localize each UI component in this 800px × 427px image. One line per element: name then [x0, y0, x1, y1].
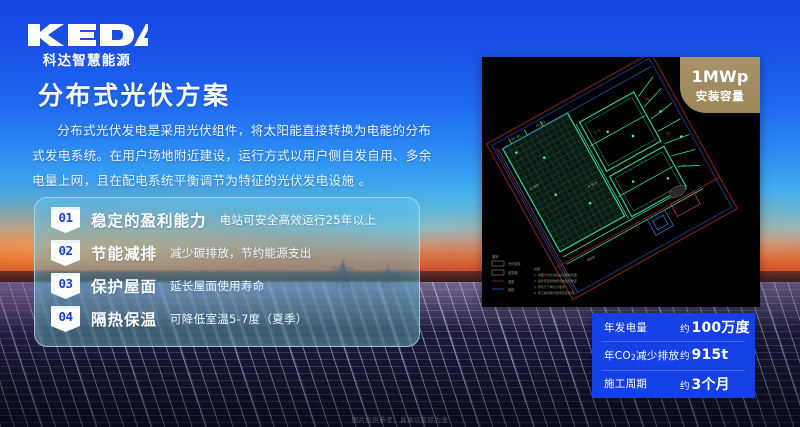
feature-item: 02 节能减排 减少碳排放，节约能源支出: [51, 239, 312, 267]
svg-text:道路: 道路: [508, 279, 515, 284]
stat-approx: 约: [680, 378, 690, 392]
stat-number: 100万度: [692, 317, 750, 337]
svg-text:说明：: 说明：: [534, 266, 543, 271]
feature-note: 可降低室温5-7度（夏季）: [170, 311, 307, 327]
feature-title: 隔热保温: [91, 308, 157, 330]
stat-value: 约 915t: [680, 347, 728, 363]
capacity-label: 安装容量: [696, 88, 744, 104]
svg-text:图例: 图例: [492, 254, 498, 259]
stat-number: 3个月: [692, 374, 730, 394]
description-paragraph: 分布式光伏发电是采用光伏组件，将太阳能直接转换为电能的分布式发电系统。在用户场地…: [32, 118, 432, 194]
svg-text:1. 本图为光伏电站总平面布置图: 1. 本图为光伏电站总平面布置图: [534, 272, 577, 277]
feature-note: 延长屋面使用寿命: [170, 278, 264, 294]
stat-value: 约 3个月: [680, 374, 730, 394]
cad-site-plan-image: PV-01PV-02 A-BLKB-BLK C-1C-2 T1T2 T3ROAD: [482, 57, 760, 307]
feature-title: 节能减排: [91, 242, 157, 264]
svg-text:C-2: C-2: [640, 158, 647, 164]
brand-logo: 科达智慧能源: [26, 22, 156, 69]
feature-title: 保护屋面: [91, 275, 157, 297]
feature-title: 稳定的盈利能力: [91, 209, 207, 231]
stats-panel: 年发电量 约 100万度 年CO2减少排放 约 915t 施工周期 约 3个月: [592, 313, 755, 398]
stat-row: 年CO2减少排放 约 915t: [592, 341, 755, 369]
stat-row: 年发电量 约 100万度: [592, 313, 755, 341]
svg-text:T2: T2: [665, 131, 671, 136]
feature-number: 02: [51, 243, 80, 258]
number-badge-icon: 03: [51, 273, 80, 299]
stat-value: 约 100万度: [680, 317, 750, 337]
capacity-badge: 1MWp 安装容量: [680, 57, 760, 113]
feature-item: 03 保护屋面 延长屋面使用寿命: [51, 272, 264, 300]
cad-notes-icon: 说明： 1. 本图为光伏电站总平面布置图 2. 组件安装倾角按当地最佳角度 3.…: [534, 265, 644, 295]
stat-row: 施工周期 约 3个月: [592, 370, 755, 398]
svg-text:C-1: C-1: [594, 128, 601, 134]
slide-canvas: 科达智慧能源 分布式光伏方案 分布式光伏发电是采用光伏组件，将太阳能直接转换为电…: [0, 0, 800, 427]
svg-text:逆变器: 逆变器: [508, 270, 518, 275]
svg-text:电缆: 电缆: [508, 287, 515, 292]
feature-list-panel: 01 稳定的盈利能力 电站可安全高效运行25年以上 02 节能减排 减少碳排放，…: [34, 197, 420, 347]
stat-number: 915t: [692, 347, 729, 363]
feature-note: 电站可安全高效运行25年以上: [220, 212, 377, 228]
stat-approx: 约: [680, 348, 690, 362]
capacity-value: 1MWp: [692, 67, 749, 86]
svg-text:光伏组件: 光伏组件: [508, 261, 522, 266]
feature-item: 01 稳定的盈利能力 电站可安全高效运行25年以上: [51, 206, 376, 234]
feature-note: 减少碳排放，节约能源支出: [170, 245, 312, 261]
stat-label: 年CO2减少排放: [604, 348, 679, 363]
svg-text:T3: T3: [681, 163, 687, 168]
svg-text:3. 所有尺寸单位为毫米: 3. 所有尺寸单位为毫米: [534, 284, 565, 289]
number-badge-icon: 04: [51, 306, 80, 332]
number-badge-icon: 02: [51, 240, 80, 266]
stat-label: 施工周期: [604, 376, 647, 391]
page-title: 分布式光伏方案: [38, 76, 231, 112]
number-badge-icon: 01: [51, 207, 80, 233]
footer-disclaimer: 图片仅供参考，具体以实际为准: [0, 414, 800, 424]
svg-text:2. 组件安装倾角按当地最佳角度: 2. 组件安装倾角按当地最佳角度: [534, 278, 577, 283]
stat-approx: 约: [680, 321, 690, 335]
feature-number: 04: [51, 309, 80, 324]
feature-item: 04 隔热保温 可降低室温5-7度（夏季）: [51, 305, 308, 333]
brand-logo-subtitle: 科达智慧能源: [26, 49, 148, 69]
feature-number: 03: [51, 276, 80, 291]
svg-text:4. 施工前须核对现场实际情况: 4. 施工前须核对现场实际情况: [534, 290, 574, 295]
stat-label: 年发电量: [604, 320, 647, 335]
keda-wordmark-icon: [26, 22, 148, 48]
feature-number: 01: [51, 210, 80, 225]
